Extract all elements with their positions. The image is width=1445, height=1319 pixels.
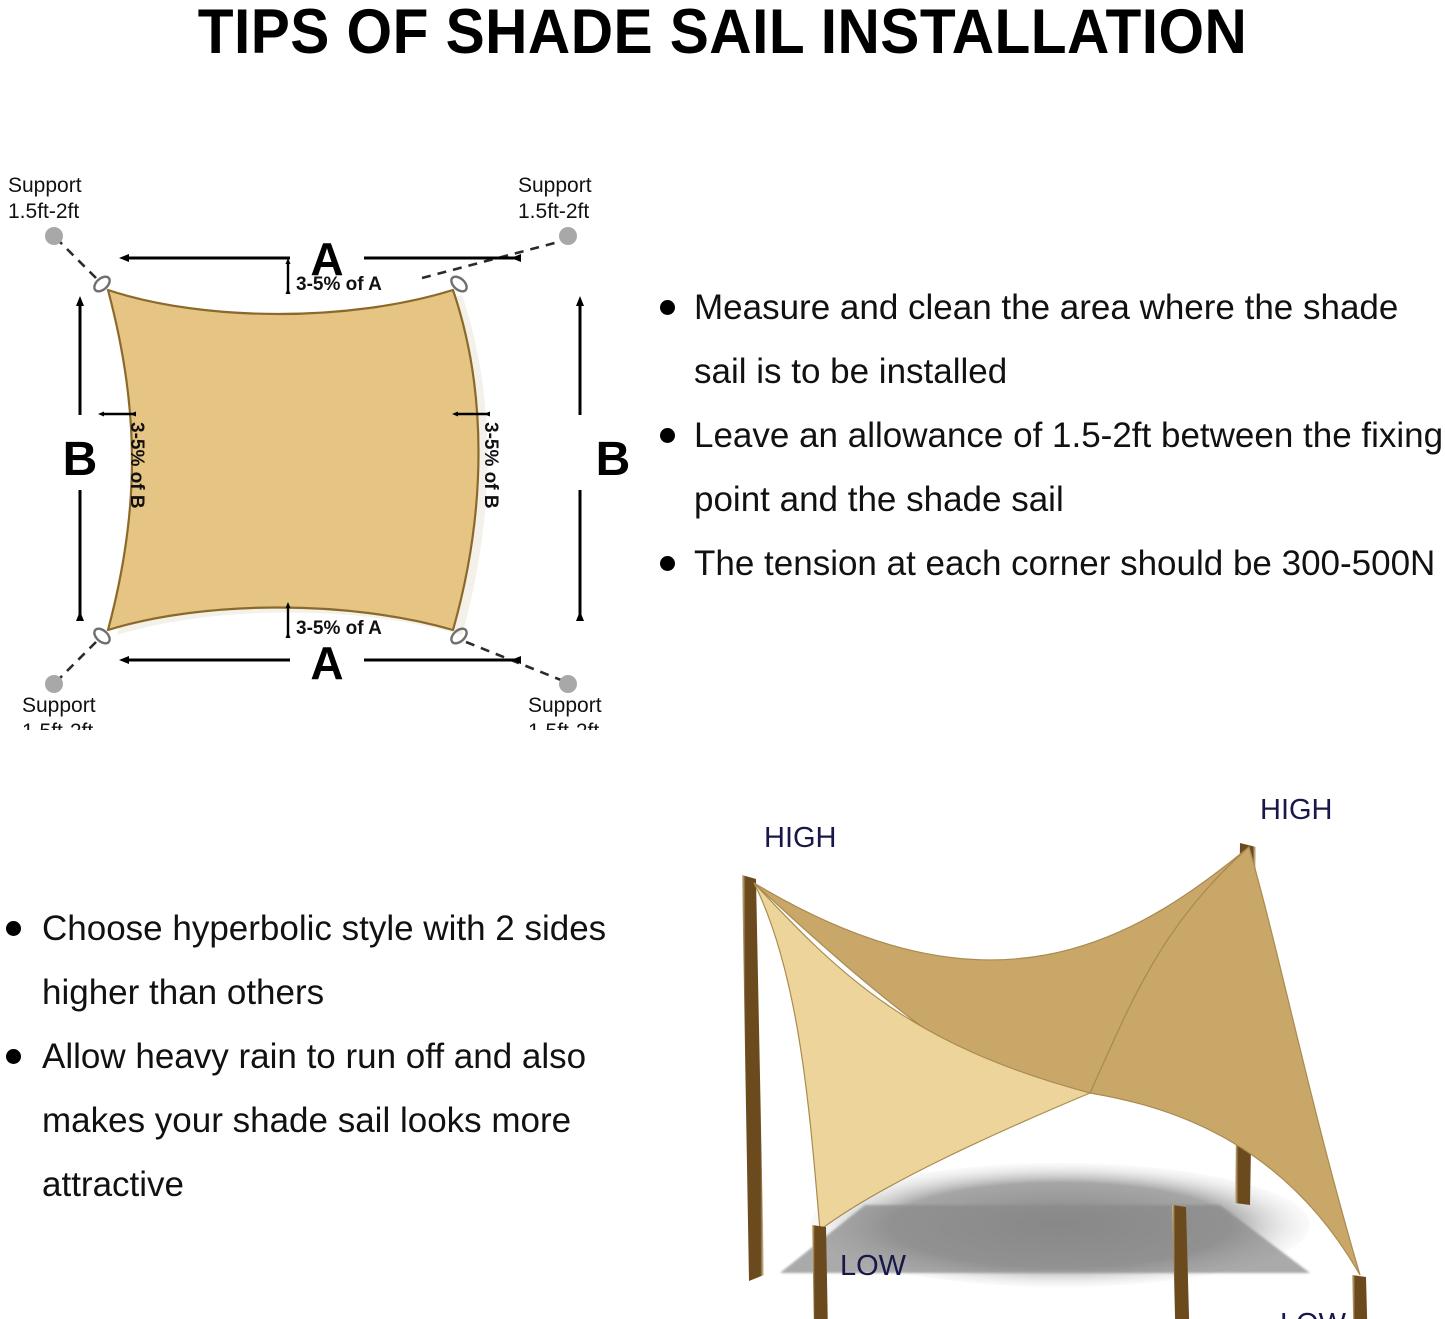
bullet-dot-icon	[660, 300, 675, 315]
tip-item: The tension at each corner should be 300…	[650, 532, 1445, 596]
post-low-right	[1352, 1275, 1372, 1319]
tips-list-left: Choose hyperbolic style with 2 sides hig…	[0, 897, 640, 1217]
sail-shape	[105, 290, 488, 635]
rectangular-sail-diagram: Support 1.5ft-2ft Support 1.5ft-2ft Supp…	[0, 160, 680, 730]
page-title: TIPS OF SHADE SAIL INSTALLATION	[51, 0, 1395, 68]
tip-text: The tension at each corner should be 300…	[694, 544, 1435, 583]
support-label-top-right-line2: 1.5ft-2ft	[518, 200, 589, 223]
support-label-bottom-left-line1: Support	[22, 694, 96, 717]
tip-item: Leave an allowance of 1.5-2ft between th…	[650, 404, 1445, 532]
tip-text: Leave an allowance of 1.5-2ft between th…	[694, 416, 1443, 519]
label-high-left: HIGH	[764, 822, 837, 854]
support-label-bottom-right-line1: Support	[528, 694, 602, 717]
curve-callout-left: 3-5% of B	[104, 414, 147, 509]
dimension-b-right: B	[580, 305, 630, 620]
tip-text: Choose hyperbolic style with 2 sides hig…	[42, 909, 606, 1012]
support-label-bottom-right-line2: 1.5ft-2ft	[528, 720, 599, 730]
curve-label-left: 3-5% of B	[126, 422, 147, 509]
curve-label-right: 3-5% of B	[480, 422, 501, 509]
tip-item: Allow heavy rain to run off and also mak…	[0, 1025, 640, 1217]
tip-item: Choose hyperbolic style with 2 sides hig…	[0, 897, 640, 1025]
tip-text: Measure and clean the area where the sha…	[694, 288, 1398, 391]
infographic-page: TIPS OF SHADE SAIL INSTALLATION	[0, 0, 1445, 1319]
curve-label-bottom: 3-5% of A	[296, 618, 382, 639]
dimension-a-bottom: A	[128, 637, 520, 689]
dimension-label-b-left: B	[63, 433, 98, 486]
support-dot-bottom-right	[559, 675, 577, 693]
support-label-top-right-line1: Support	[518, 174, 592, 197]
support-label-top-left-line1: Support	[8, 174, 82, 197]
tip-item: Measure and clean the area where the sha…	[650, 276, 1445, 404]
dimension-label-a-bottom: A	[310, 637, 343, 689]
post-high-left	[742, 875, 764, 1281]
support-dot-bottom-left	[45, 675, 63, 693]
support-dot-top-right	[559, 227, 577, 245]
hyperbolic-sail-diagram: HIGH HIGH LOW LOW	[660, 775, 1445, 1319]
support-label-top-left-line2: 1.5ft-2ft	[8, 200, 79, 223]
support-label-bottom-left-line2: 1.5ft-2ft	[22, 720, 93, 730]
dimension-b-left: B	[63, 305, 98, 620]
support-dot-top-left	[45, 227, 63, 245]
tip-text: Allow heavy rain to run off and also mak…	[42, 1037, 586, 1204]
bullet-dot-icon	[6, 921, 21, 936]
bullet-dot-icon	[6, 1049, 21, 1064]
bullet-dot-icon	[660, 556, 675, 571]
bullet-dot-icon	[660, 428, 675, 443]
tips-list-right: Measure and clean the area where the sha…	[650, 276, 1445, 596]
label-high-right: HIGH	[1260, 794, 1333, 826]
label-low-left: LOW	[840, 1250, 907, 1282]
dimension-label-b-right: B	[596, 433, 631, 486]
curve-label-top: 3-5% of A	[296, 274, 382, 295]
label-low-right: LOW	[1280, 1308, 1347, 1319]
